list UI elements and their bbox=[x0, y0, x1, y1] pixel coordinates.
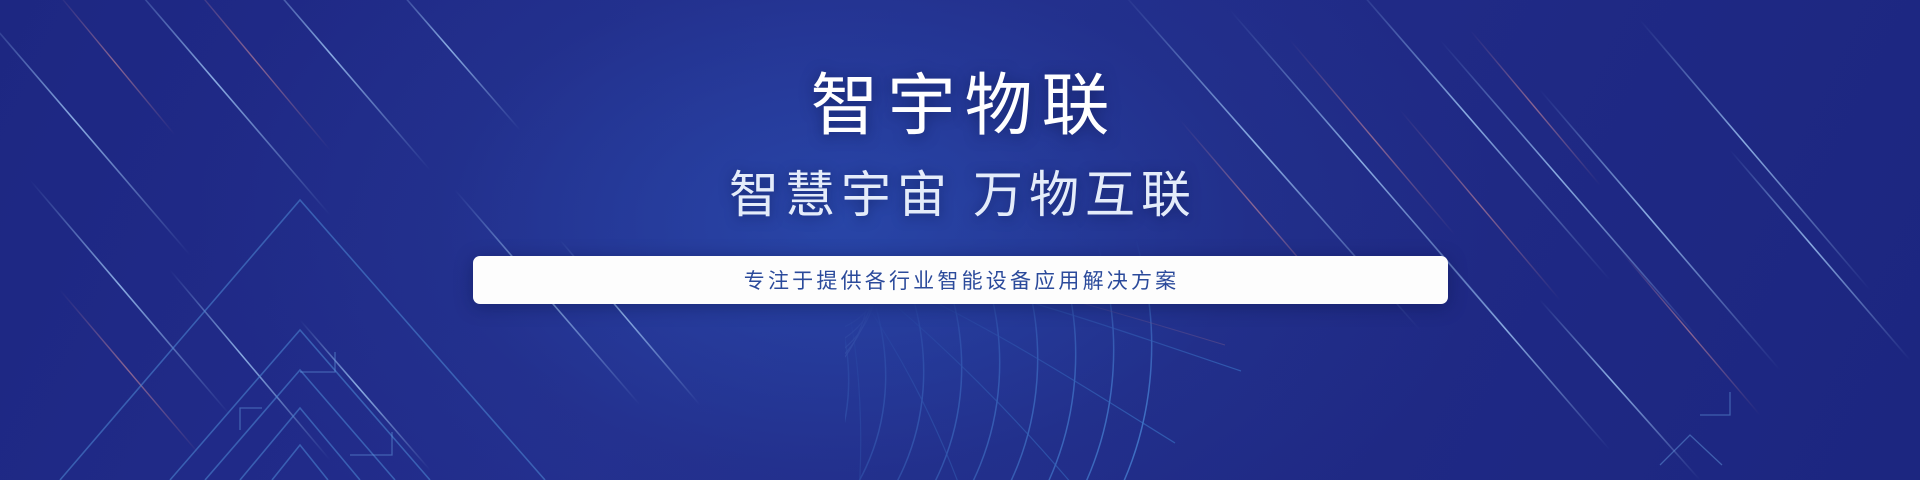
banner-content: 智宇物联 智慧宇宙 万物互联 专注于提供各行业智能设备应用解决方案 bbox=[0, 0, 1920, 480]
tagline-pill[interactable]: 专注于提供各行业智能设备应用解决方案 bbox=[473, 256, 1448, 304]
tagline-text: 专注于提供各行业智能设备应用解决方案 bbox=[741, 265, 1180, 295]
page-title: 智宇物联 bbox=[801, 72, 1118, 140]
banner-subtitle: 智慧宇宙 万物互联 bbox=[723, 170, 1197, 220]
hero-banner: 智宇物联 智慧宇宙 万物互联 专注于提供各行业智能设备应用解决方案 bbox=[0, 0, 1920, 480]
